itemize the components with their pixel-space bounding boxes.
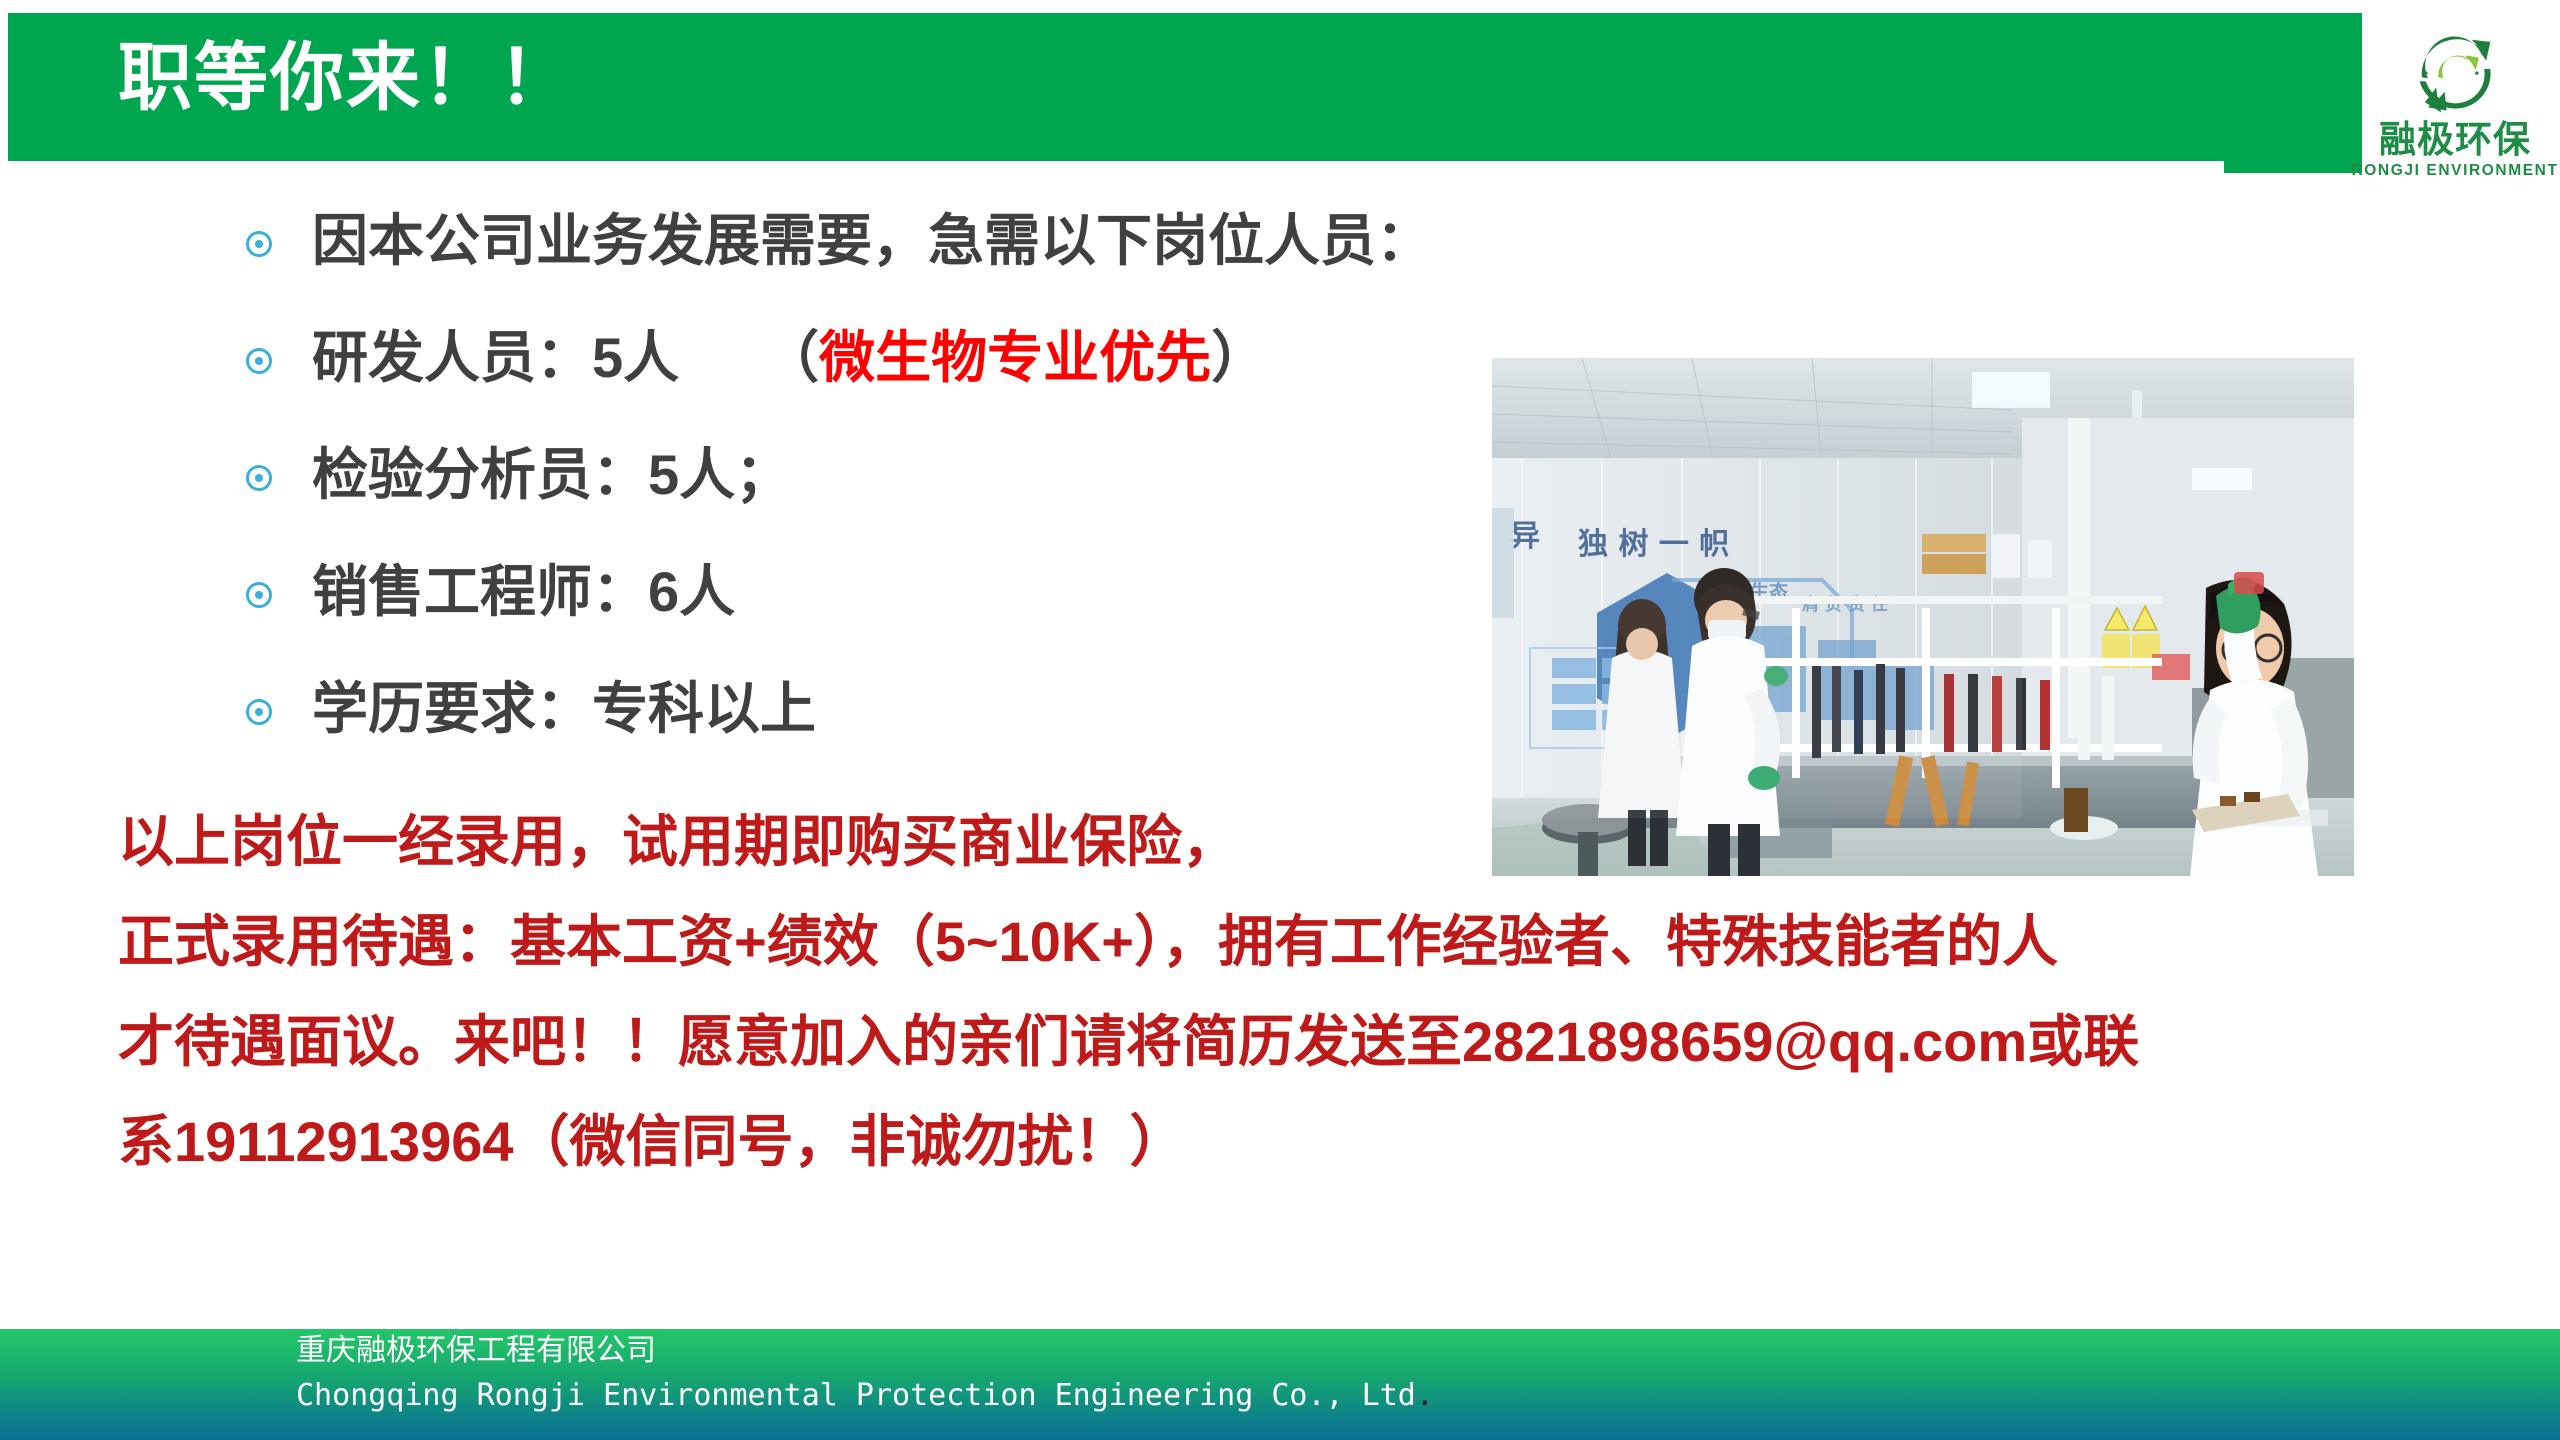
- recycle-circle-icon: [2403, 19, 2507, 123]
- page-title: 职等你来！！: [118, 41, 574, 115]
- bullet-dot-icon: [246, 699, 272, 725]
- bullet-dot-icon: [246, 465, 272, 491]
- notice-line: 正式录用待遇：基本工资+绩效（5~10K+），拥有工作经验者、特殊技能者的人: [118, 892, 2518, 992]
- footer-company-en: Chongqing Rongji Environmental Protectio…: [296, 1381, 1434, 1411]
- list-item-label: 检验分析员：5人；: [312, 444, 791, 506]
- list-item-label: 销售工程师：6人: [312, 561, 735, 623]
- job-requirements-list: 因本公司业务发展需要，急需以下岗位人员： 研发人员：5人 （微生物专业优先） 检…: [246, 205, 1506, 790]
- list-item-label: 因本公司业务发展需要，急需以下岗位人员：: [312, 210, 1432, 272]
- list-item-label: 学历要求：专科以上: [312, 678, 816, 740]
- list-item-main: 研发人员：5人 （: [312, 326, 819, 389]
- footer-company-en-text: Chongqing Rongji Environmental Protectio…: [296, 1378, 1416, 1413]
- list-item: 学历要求：专科以上: [246, 673, 1506, 745]
- list-item-tail: ）: [1211, 326, 1267, 389]
- list-item: 因本公司业务发展需要，急需以下岗位人员：: [246, 205, 1506, 277]
- footer-company-en-dot: .: [1416, 1378, 1434, 1413]
- list-item: 检验分析员：5人；: [246, 439, 1506, 511]
- bullet-dot-icon: [246, 348, 272, 374]
- notice-line: 才待遇面议。来吧！！愿意加入的亲们请将简历发送至2821898659@qq.co…: [118, 992, 2518, 1092]
- list-item-label: 研发人员：5人 （微生物专业优先）: [312, 327, 1267, 389]
- footer-company-cn: 重庆融极环保工程有限公司: [296, 1336, 656, 1366]
- header-banner: 职等你来！！: [8, 13, 2374, 161]
- recruitment-notice: 以上岗位一经录用，试用期即购买商业保险， 正式录用待遇：基本工资+绩效（5~10…: [118, 792, 2518, 1192]
- bullet-dot-icon: [246, 231, 272, 257]
- logo-english-name: RONGJI ENVIRONMENT: [2351, 163, 2558, 179]
- notice-line: 系19112913964（微信同号，非诚勿扰！）: [118, 1092, 2518, 1192]
- bullet-dot-icon: [246, 582, 272, 608]
- list-item: 销售工程师：6人: [246, 556, 1506, 628]
- banner-right-tab: [2224, 13, 2374, 173]
- logo-chinese-name: 融极环保: [2379, 121, 2531, 158]
- notice-line: 以上岗位一经录用，试用期即购买商业保险，: [118, 792, 2518, 892]
- list-item-highlight: 微生物专业优先: [819, 326, 1211, 389]
- company-logo: 融极环保 RONGJI ENVIRONMENT: [2362, 13, 2548, 203]
- list-item: 研发人员：5人 （微生物专业优先）: [246, 322, 1506, 394]
